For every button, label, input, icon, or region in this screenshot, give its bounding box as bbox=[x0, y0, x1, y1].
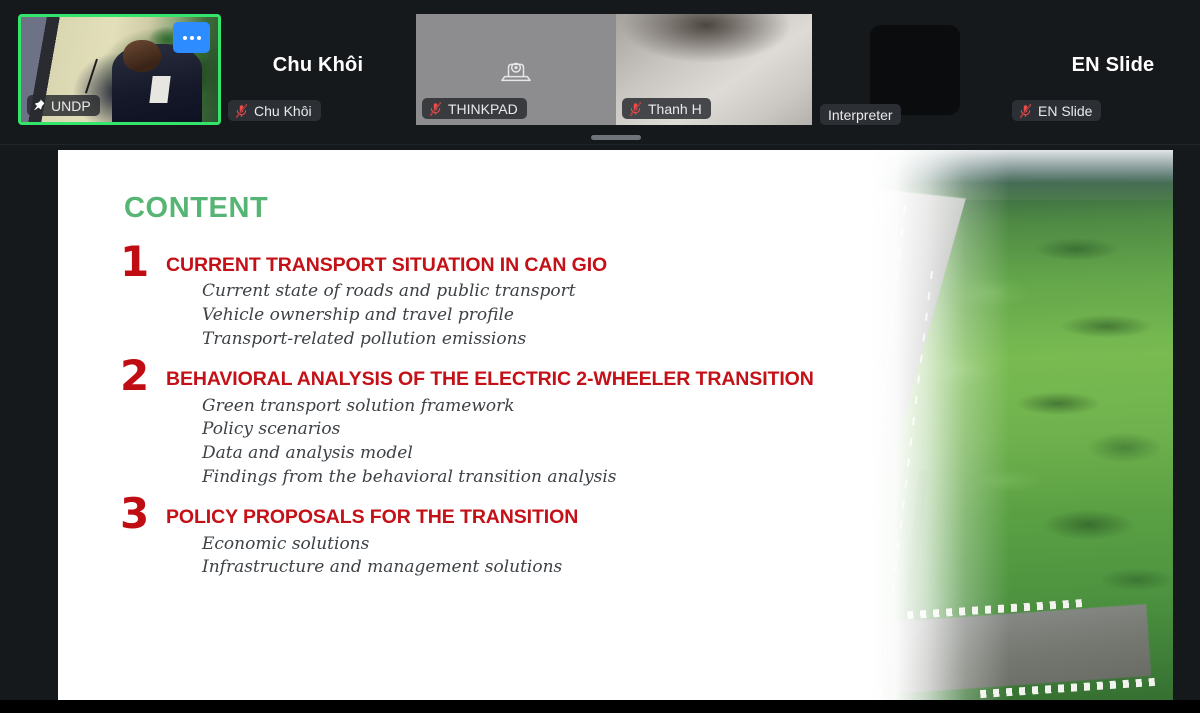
participant-tile-thinkpad[interactable]: THINKPAD bbox=[416, 14, 616, 125]
participant-tile-en-slide[interactable]: EN Slide bbox=[1034, 50, 1192, 80]
decor-microphone-stand bbox=[85, 59, 98, 94]
participant-badge-thinkpad: THINKPAD bbox=[422, 98, 527, 119]
shared-screen-slide: CONTENT 1 CURRENT TRANSPORT SITUATION IN… bbox=[58, 150, 1173, 701]
agenda-number: 2 bbox=[120, 355, 164, 397]
participant-badge-en-slide: EN Slide bbox=[1012, 100, 1101, 121]
agenda-subitem: Green transport solution framework bbox=[202, 395, 930, 419]
agenda-subitems: Current state of roads and public transp… bbox=[202, 280, 930, 351]
agenda-subitems: Green transport solution framework Polic… bbox=[202, 395, 930, 490]
agenda-subitem: Findings from the behavioral transition … bbox=[202, 466, 930, 490]
pin-icon bbox=[33, 99, 46, 113]
participant-filmstrip[interactable]: UNDP Chu Khôi Chu Khôi bbox=[0, 0, 1200, 145]
agenda-subitem: Current state of roads and public transp… bbox=[202, 280, 930, 304]
agenda-number: 1 bbox=[120, 241, 164, 283]
agenda-subitem: Policy scenarios bbox=[202, 418, 930, 442]
mic-muted-icon bbox=[428, 101, 443, 117]
mic-muted-icon bbox=[628, 101, 643, 117]
participant-badge-undp: UNDP bbox=[27, 95, 100, 116]
filmstrip-divider bbox=[0, 144, 1200, 145]
participant-name-thinkpad: THINKPAD bbox=[448, 102, 518, 116]
participant-display-name-chu-khoi: Chu Khôi bbox=[273, 54, 363, 77]
mic-muted-icon bbox=[234, 103, 249, 119]
agenda-heading: POLICY PROPOSALS FOR THE TRANSITION bbox=[166, 506, 930, 528]
photo-fade-left bbox=[871, 150, 1010, 701]
participant-name-en-slide: EN Slide bbox=[1038, 104, 1092, 118]
participant-name-undp: UNDP bbox=[51, 99, 91, 113]
agenda-subitem: Infrastructure and management solutions bbox=[202, 556, 930, 580]
participant-tile-thanh-h[interactable]: Thanh H bbox=[616, 14, 812, 125]
participant-badge-interpreter: Interpreter bbox=[820, 104, 901, 125]
participant-tile-undp[interactable]: UNDP bbox=[18, 14, 221, 125]
participant-tile-chu-khoi[interactable]: Chu Khôi bbox=[236, 50, 400, 80]
filmstrip-resize-handle[interactable] bbox=[591, 135, 641, 140]
participant-badge-chu-khoi: Chu Khôi bbox=[228, 100, 321, 121]
mic-muted-icon bbox=[1018, 103, 1033, 119]
slide-agenda-list: 1 CURRENT TRANSPORT SITUATION IN CAN GIO… bbox=[120, 254, 930, 597]
zoom-meeting-window: UNDP Chu Khôi Chu Khôi bbox=[0, 0, 1200, 713]
participant-name-thanh-h: Thanh H bbox=[648, 102, 702, 116]
agenda-section: 1 CURRENT TRANSPORT SITUATION IN CAN GIO… bbox=[120, 254, 930, 351]
agenda-section: 3 POLICY PROPOSALS FOR THE TRANSITION Ec… bbox=[120, 506, 930, 580]
agenda-subitems: Economic solutions Infrastructure and ma… bbox=[202, 533, 930, 580]
agenda-subitem: Data and analysis model bbox=[202, 442, 930, 466]
agenda-subitem: Economic solutions bbox=[202, 533, 930, 557]
agenda-heading: BEHAVIORAL ANALYSIS OF THE ELECTRIC 2-WH… bbox=[166, 368, 930, 390]
participant-display-name-en-slide: EN Slide bbox=[1072, 54, 1155, 77]
agenda-number: 3 bbox=[120, 493, 164, 535]
participant-tile-interpreter[interactable] bbox=[870, 25, 960, 115]
slide-photo-aerial-highway bbox=[871, 150, 1173, 701]
participant-name-interpreter: Interpreter bbox=[828, 108, 893, 122]
agenda-subitem: Vehicle ownership and travel profile bbox=[202, 304, 930, 328]
participant-name-chu-khoi: Chu Khôi bbox=[254, 104, 312, 118]
slide-title: CONTENT bbox=[124, 192, 268, 225]
agenda-subitem: Transport-related pollution emissions bbox=[202, 328, 930, 352]
agenda-heading: CURRENT TRANSPORT SITUATION IN CAN GIO bbox=[166, 254, 930, 276]
laptop-webcam-icon bbox=[499, 55, 533, 85]
bottom-black-strip bbox=[0, 700, 1200, 713]
more-options-icon[interactable] bbox=[173, 22, 210, 53]
decor-speaker-head bbox=[123, 40, 160, 72]
participant-badge-thanh-h: Thanh H bbox=[622, 98, 711, 119]
agenda-section: 2 BEHAVIORAL ANALYSIS OF THE ELECTRIC 2-… bbox=[120, 368, 930, 489]
decor-speaker-shirt bbox=[149, 76, 170, 103]
